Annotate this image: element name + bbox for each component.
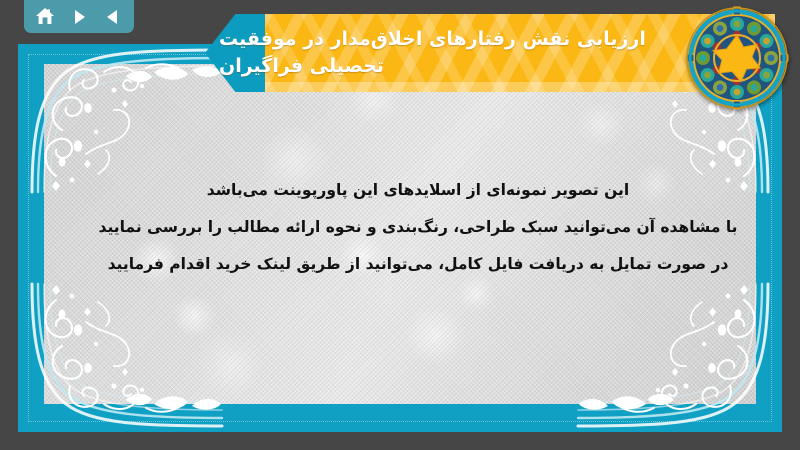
triangle-left-icon [104,8,122,26]
body-line-2: با مشاهده آن می‌توانید سبک طراحی، رنگ‌بن… [62,209,774,246]
slide-viewer: این تصویر نمونه‌ای از اسلایدهای این پاور… [0,0,800,450]
home-button[interactable] [31,4,59,30]
back-button[interactable] [99,4,127,30]
slide-navigation-bar [24,0,134,33]
slide-frame: این تصویر نمونه‌ای از اسلایدهای این پاور… [18,44,782,432]
slide-body-text: این تصویر نمونه‌ای از اسلایدهای این پاور… [62,172,774,283]
persian-shamseh-medallion-icon [685,6,789,110]
body-line-3: در صورت تمایل به دریافت فایل کامل، می‌تو… [62,246,774,283]
forward-button[interactable] [65,4,93,30]
page-title-line-1: ارزیابی نقش رفتارهای اخلاق‌مدار در موفقی… [219,26,646,53]
body-line-1: این تصویر نمونه‌ای از اسلایدهای این پاور… [62,172,774,209]
home-icon [35,7,55,26]
triangle-right-icon [70,8,88,26]
page-title-line-2: تحصیلی فراگیران [219,53,384,80]
